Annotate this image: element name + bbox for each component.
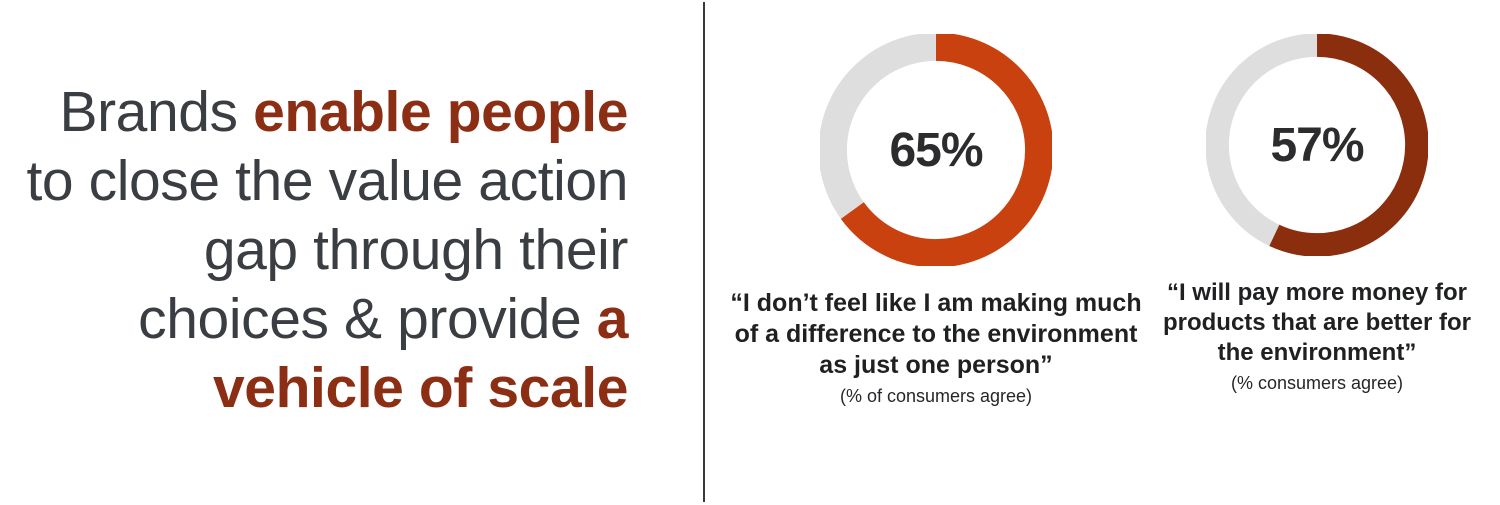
donut-value-label: 57%: [1206, 34, 1428, 256]
stats-panel: 65% “I don’t feel like I am making much …: [706, 0, 1500, 505]
statement-segment-0: Brands: [59, 80, 253, 144]
stat-caption: “I will pay more money for products that…: [1150, 278, 1484, 368]
statement-segment-1: enable people: [253, 80, 628, 144]
donut-value-label: 65%: [820, 34, 1052, 266]
statement-panel: Brands enable people to close the value …: [0, 0, 660, 505]
stat-block: 57% “I will pay more money for products …: [1150, 34, 1484, 394]
donut-chart: 57%: [1206, 34, 1428, 256]
stat-block: 65% “I don’t feel like I am making much …: [726, 34, 1146, 407]
stat-subcaption: (% consumers agree): [1150, 372, 1484, 394]
statement-segment-2: to close the value action gap through th…: [26, 149, 628, 351]
vertical-divider: [703, 2, 705, 502]
stat-subcaption: (% of consumers agree): [726, 385, 1146, 407]
stat-caption: “I don’t feel like I am making much of a…: [726, 288, 1146, 381]
slide-canvas: Brands enable people to close the value …: [0, 0, 1500, 505]
donut-chart: 65%: [820, 34, 1052, 266]
page-title: Brands enable people to close the value …: [20, 78, 628, 423]
